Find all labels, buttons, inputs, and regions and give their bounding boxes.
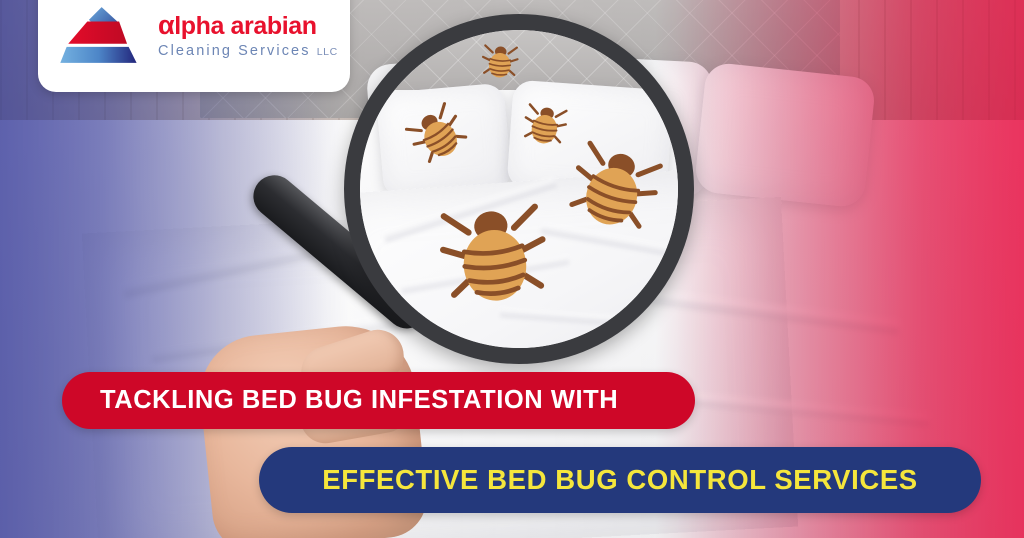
magnifier-lens: [360, 30, 678, 348]
bed-bug-icon: [520, 99, 570, 153]
brand-title-alpha: α: [158, 10, 174, 40]
headline-banner-primary: TACKLING BED BUG INFESTATION WITH: [62, 372, 695, 429]
headline-line-1: TACKLING BED BUG INFESTATION WITH: [100, 386, 618, 415]
triangle-logo-icon: [60, 4, 148, 66]
bed-bug-icon: [481, 41, 520, 83]
headline-line-2: EFFECTIVE BED BUG CONTROL SERVICES: [322, 464, 917, 496]
headline-banner-secondary: EFFECTIVE BED BUG CONTROL SERVICES: [259, 447, 981, 513]
brand-logo-card[interactable]: αlpha arabian Cleaning Services LLC: [38, 0, 350, 92]
bed-bug-icon: [436, 193, 552, 319]
brand-subtitle: Cleaning Services LLC: [158, 44, 338, 59]
brand-suffix: LLC: [317, 46, 338, 58]
magnified-headboard: [360, 30, 678, 90]
brand-wordmark: αlpha arabian Cleaning Services LLC: [158, 12, 338, 59]
brand-title: αlpha arabian: [158, 12, 338, 39]
brand-subtitle-text: Cleaning Services: [158, 43, 311, 59]
magnifier-rim: [344, 14, 694, 364]
brand-title-rest: lpha arabian: [174, 12, 316, 40]
promotional-banner: αlpha arabian Cleaning Services LLC TACK…: [0, 0, 1024, 538]
